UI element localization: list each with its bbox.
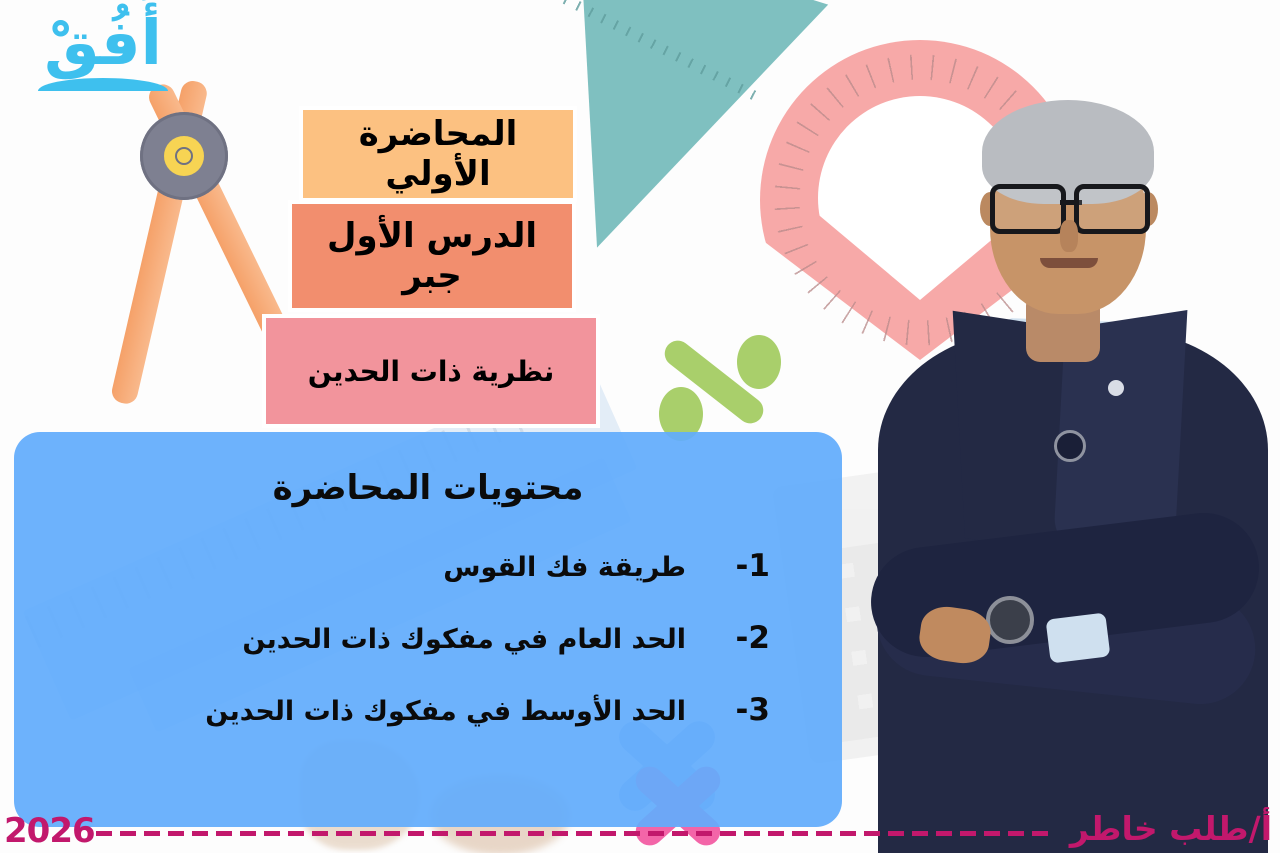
lecture-title-text: المحاضرة الأولي xyxy=(303,114,573,194)
list-item: 2- الحد العام في مفكوك ذات الحدين xyxy=(14,620,842,656)
brand-logo-text: أُفُقْ xyxy=(28,8,178,78)
presenter-lapel-pin xyxy=(1108,380,1124,396)
contents-heading: محتويات المحاضرة xyxy=(14,468,842,508)
presenter-nose xyxy=(1060,220,1078,252)
presenter-suit-button xyxy=(1054,430,1086,462)
slide-canvas: أُفُقْ المحاضرة الأولي الدرس الأول جبر ن… xyxy=(0,0,1280,853)
brand-logo-underline xyxy=(38,78,168,91)
compass-leg-left xyxy=(110,79,210,406)
footer-teacher-name: أ/طلب خاطر xyxy=(1070,809,1272,848)
list-item-number: 3- xyxy=(686,692,770,728)
brand-logo: أُفُقْ xyxy=(28,8,178,118)
list-item-label: الحد الأوسط في مفكوك ذات الحدين xyxy=(205,696,686,727)
compass-hub xyxy=(140,112,228,200)
percent-bar xyxy=(660,335,769,428)
footer-bar: 2026 أ/طلب خاطر xyxy=(0,805,1280,853)
lesson-title-text: الدرس الأول جبر xyxy=(292,216,572,296)
list-item-number: 1- xyxy=(686,548,770,584)
percent-sign-icon xyxy=(645,325,775,445)
topic-title-box: نظرية ذات الحدين xyxy=(266,318,596,424)
topic-title-text: نظرية ذات الحدين xyxy=(308,355,554,388)
list-item-label: طريقة فك القوس xyxy=(443,552,686,583)
footer-year: 2026 xyxy=(4,811,95,851)
glasses-lens-left xyxy=(990,184,1066,234)
lecture-title-box: المحاضرة الأولي xyxy=(303,110,573,198)
percent-circle-top xyxy=(737,335,781,389)
wristwatch-icon xyxy=(986,596,1034,644)
list-item-number: 2- xyxy=(686,620,770,656)
presenter-cuff xyxy=(1046,613,1111,664)
list-item-label: الحد العام في مفكوك ذات الحدين xyxy=(242,624,686,655)
presenter-photo xyxy=(840,60,1280,853)
compass-pin xyxy=(176,148,192,164)
glasses-lens-right xyxy=(1074,184,1150,234)
contents-list: 1- طريقة فك القوس 2- الحد العام في مفكوك… xyxy=(14,548,842,728)
triangle-ruler-ticks xyxy=(550,0,759,102)
footer-dashed-line xyxy=(96,831,1054,836)
lecture-contents-panel: محتويات المحاضرة 1- طريقة فك القوس 2- ال… xyxy=(14,432,842,827)
list-item: 3- الحد الأوسط في مفكوك ذات الحدين xyxy=(14,692,842,728)
list-item: 1- طريقة فك القوس xyxy=(14,548,842,584)
presenter-mouth xyxy=(1040,258,1098,268)
lesson-title-box: الدرس الأول جبر xyxy=(292,204,572,308)
